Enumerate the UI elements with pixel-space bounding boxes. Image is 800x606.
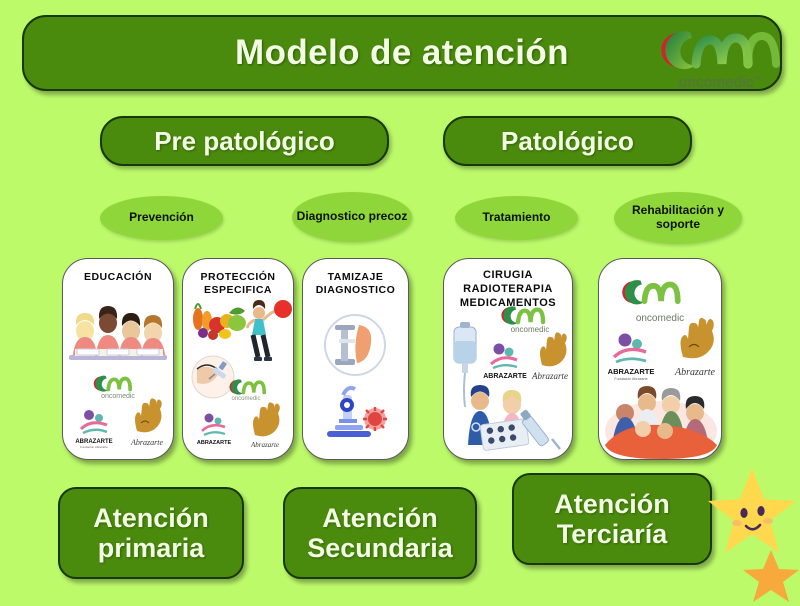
vegetables-exercise-vaccine-illustration: oncomedic ABRAZARTE Abrazarte [183, 259, 293, 459]
smiling-star-big-icon [706, 466, 798, 558]
svg-text:Fundación Abrazarte: Fundación Abrazarte [80, 445, 108, 449]
stage-label: Tratamiento [482, 211, 550, 225]
stage-label: Rehabilitación y soporte [614, 204, 742, 232]
svg-text:oncomedic: oncomedic [511, 325, 550, 334]
svg-text:Abrazarte: Abrazarte [531, 371, 568, 381]
svg-text:Fundación Abrazarte: Fundación Abrazarte [614, 377, 647, 381]
svg-text:Abrazarte: Abrazarte [130, 438, 163, 447]
card-rehabilitacion-soporte[interactable]: oncomedic ABRAZARTE Fundación Abrazarte … [598, 258, 722, 460]
stage-label: Prevención [129, 211, 194, 225]
iv-bag-nurse-pills-syringe-illustration: oncomedic ABRAZARTE Abrazarte [444, 259, 572, 459]
card-proteccion-especifica[interactable]: PROTECCIÓN ESPECIFICA [182, 258, 294, 460]
level-label: Atención Secundaria [285, 503, 475, 563]
oncomedic-swirl-icon [650, 20, 790, 80]
svg-text:Abrazarte: Abrazarte [674, 367, 716, 378]
svg-text:oncomedic: oncomedic [636, 313, 684, 324]
page-title: Modelo de atención [235, 33, 569, 73]
stage-rehabilitacion-y-soporte[interactable]: Rehabilitación y soporte [614, 192, 742, 244]
stage-tratamiento[interactable]: Tratamiento [455, 196, 578, 240]
oncomedic-wordmark: oncomedic™ [650, 74, 790, 91]
stage-prevencion[interactable]: Prevención [100, 196, 223, 240]
svg-text:oncomedic: oncomedic [231, 396, 260, 402]
level-label: Atención Terciaría [514, 489, 710, 549]
phase-label: Patológico [501, 126, 634, 157]
oncomedic-logo: oncomedic™ [650, 20, 790, 100]
group-hug-support-illustration: oncomedic ABRAZARTE Fundación Abrazarte … [599, 259, 721, 459]
level-label: Atención primaria [60, 503, 242, 563]
phase-banner-pre-patologico[interactable]: Pre patológico [100, 116, 389, 166]
card-educacion[interactable]: EDUCACIÓN [62, 258, 174, 460]
phase-banner-patologico[interactable]: Patológico [443, 116, 692, 166]
students-studying-illustration: oncomedic ABRAZARTE Fundación Abrazarte … [63, 259, 173, 459]
level-atencion-secundaria[interactable]: Atención Secundaria [283, 487, 477, 579]
stage-label: Diagnostico precoz [297, 210, 408, 224]
phase-label: Pre patológico [154, 126, 335, 157]
level-atencion-primaria[interactable]: Atención primaria [58, 487, 244, 579]
svg-text:ABRAZARTE: ABRAZARTE [483, 373, 527, 380]
svg-text:oncomedic: oncomedic [101, 393, 135, 400]
svg-text:Abrazarte: Abrazarte [250, 441, 279, 449]
stage-diagnostico-precoz[interactable]: Diagnostico precoz [292, 192, 412, 242]
star-small-icon [742, 548, 800, 606]
card-cirugia-radioterapia-medicamentos[interactable]: CIRUGIA RADIOTERAPIA MEDICAMENTOS oncome… [443, 258, 573, 460]
mammography-microscope-illustration [303, 259, 408, 459]
level-atencion-terciaria[interactable]: Atención Terciaría [512, 473, 712, 565]
svg-text:ABRAZARTE: ABRAZARTE [197, 440, 232, 446]
card-tamizaje-diagnostico[interactable]: TAMIZAJE DIAGNOSTICO [302, 258, 409, 460]
svg-text:ABRAZARTE: ABRAZARTE [608, 367, 655, 376]
